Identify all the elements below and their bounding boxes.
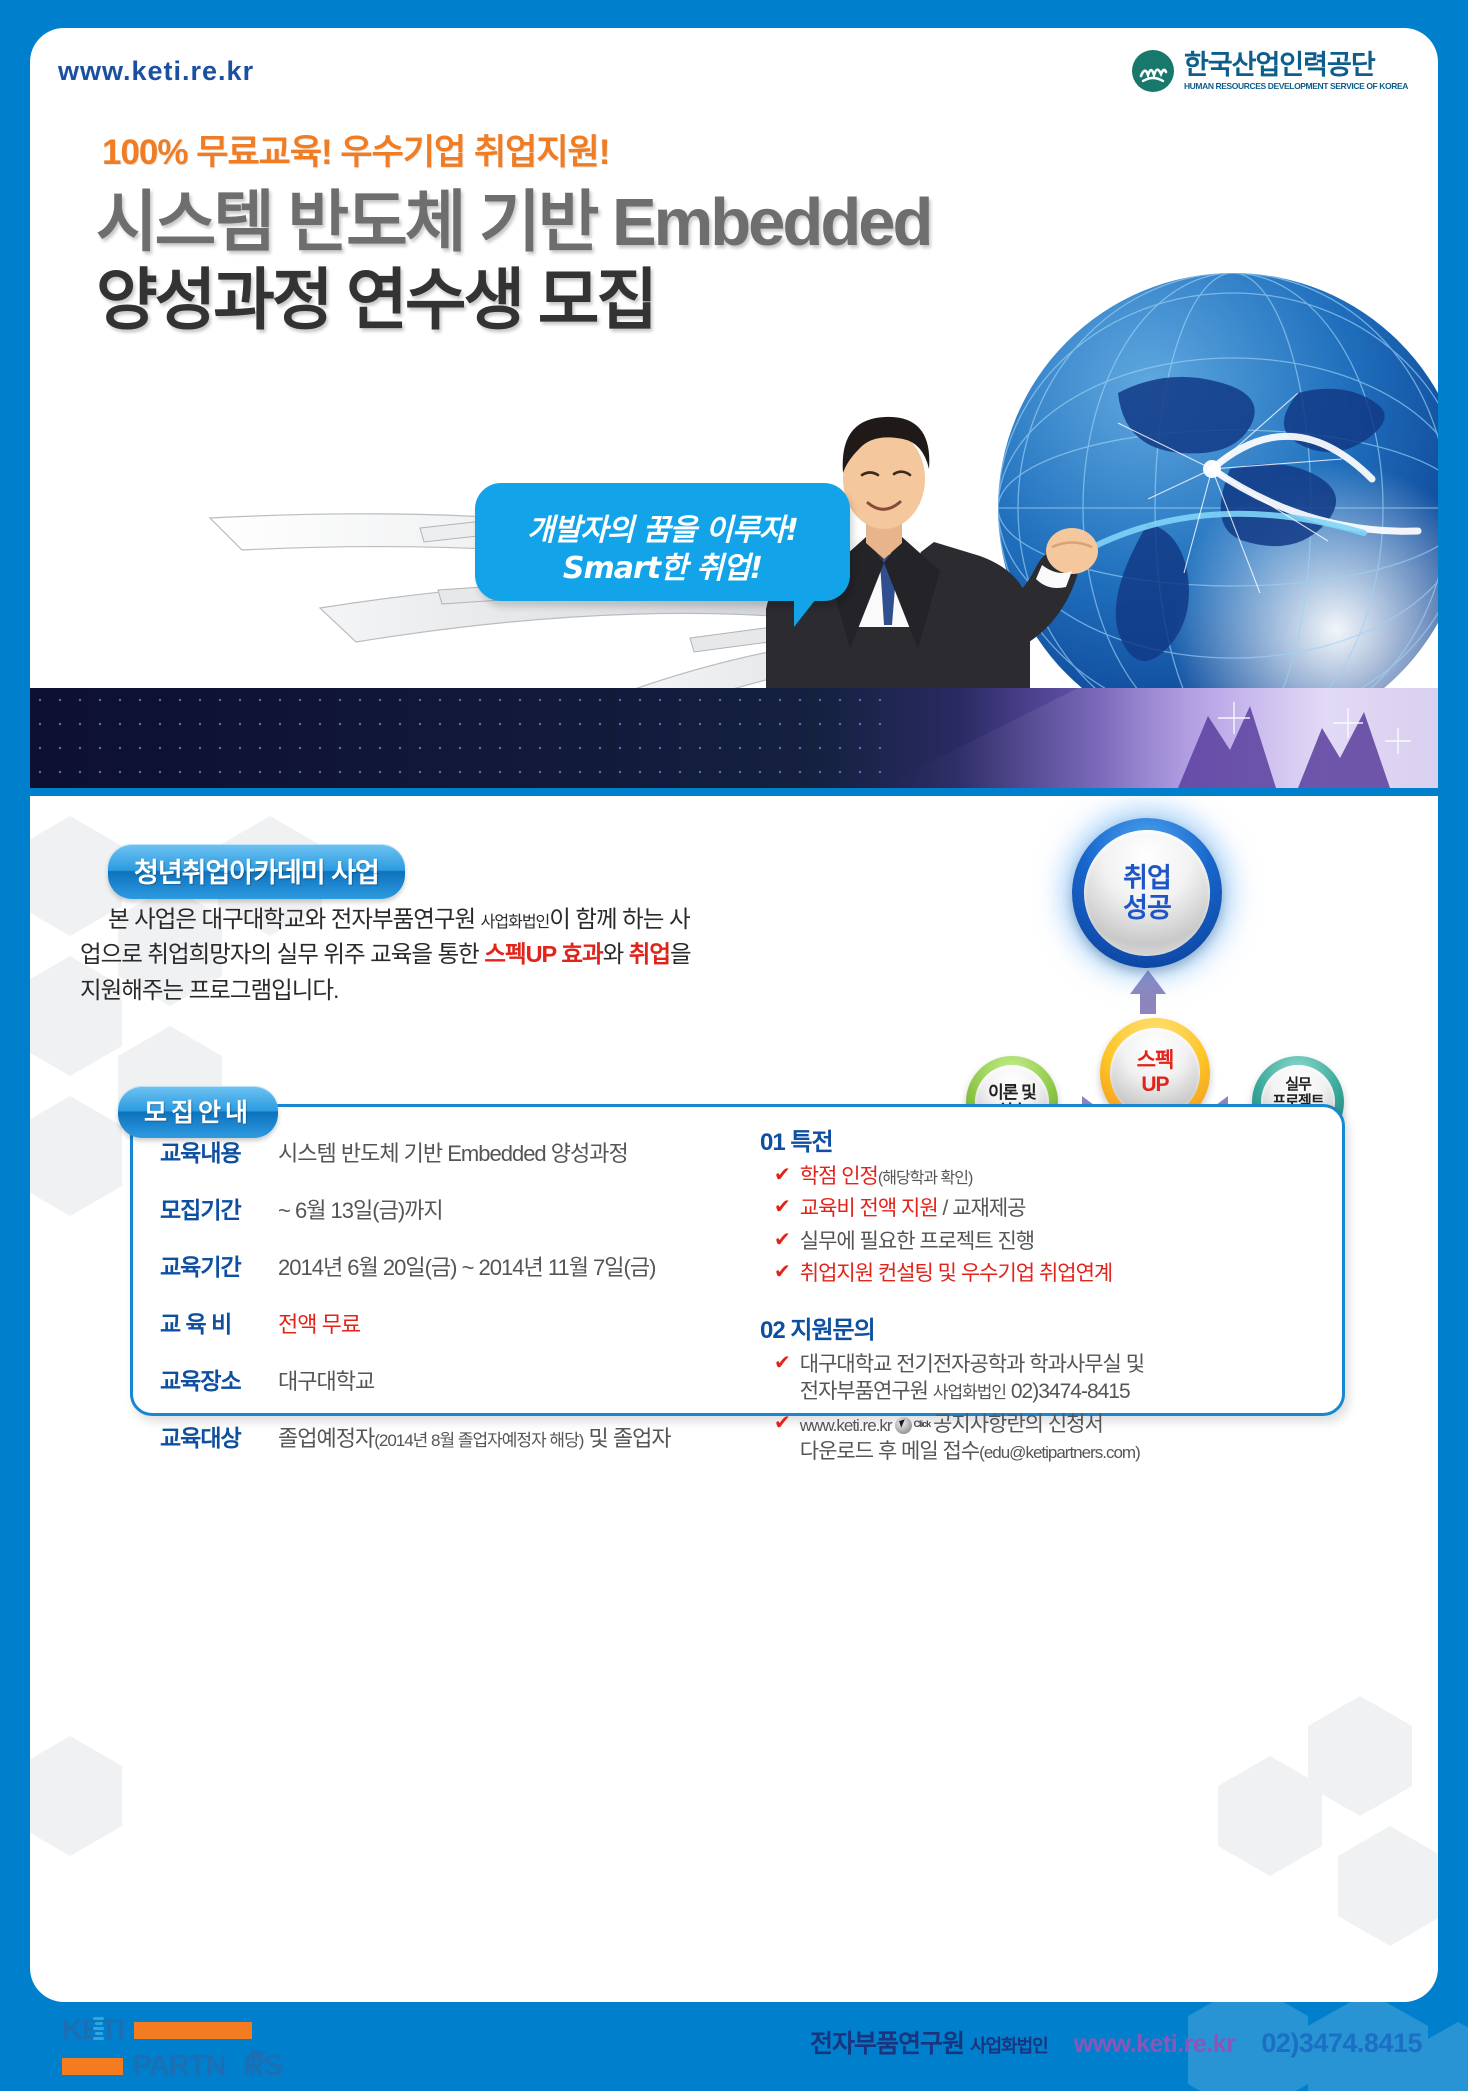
hrd-logo-english: HUMAN RESOURCES DEVELOPMENT SERVICE OF K… bbox=[1184, 82, 1408, 91]
check-icon: ✔ bbox=[774, 1228, 791, 1253]
benefit-note: (해당학과 확인) bbox=[878, 1170, 972, 1187]
check-icon: ✔ bbox=[774, 1411, 791, 1436]
row-value: ~ 6월 13일(금)까지 bbox=[278, 1193, 443, 1225]
contact-apply-instructions: www.keti.re.krClick공지사항란의 신청서 다운로드 후 메일 … bbox=[800, 1411, 1140, 1466]
recruitment-info-box: 모집안내 교육내용 시스템 반도체 기반 Embedded 양성과정 모집기간 … bbox=[130, 1086, 1345, 1416]
benefit-text: 취업지원 컨설팅 및 우수기업 취업연계 bbox=[800, 1260, 1112, 1287]
footer-contact-info: 전자부품연구원 사업화법인 www.keti.re.kr 02)3474.841… bbox=[810, 2024, 1422, 2060]
keti-partners-logo: KETI PARTNERS bbox=[62, 2015, 282, 2077]
row-value-note: (2014년 8월 졸업자예정자 해당) bbox=[374, 1431, 583, 1450]
flag-e-icon bbox=[249, 2048, 269, 2078]
row-value: 2014년 6월 20일(금) ~ 2014년 11월 7일(금) bbox=[278, 1250, 655, 1282]
contact-notice-text: 공지사항란의 신청서 bbox=[933, 1413, 1103, 1436]
contact-email: (edu@ketipartners.com) bbox=[979, 1443, 1140, 1462]
node-success-line2: 성공 bbox=[1123, 893, 1171, 923]
list-item: ✔ 실무에 필요한 프로젝트 진행 bbox=[760, 1228, 1300, 1255]
desc-small-1: 사업화법인 bbox=[481, 914, 550, 931]
footer-org-note: 사업화법인 bbox=[970, 2036, 1048, 2056]
contact-phone: 02)3474-8415 bbox=[1006, 1380, 1130, 1403]
row-value-main: 졸업예정자 bbox=[278, 1426, 374, 1451]
contact-website-url[interactable]: www.keti.re.kr bbox=[800, 1416, 892, 1435]
benefits-heading: 01 특전 bbox=[760, 1122, 1300, 1157]
list-item: ✔ 학점 인정(해당학과 확인) bbox=[760, 1163, 1300, 1190]
row-value-tuition-free: 전액 무료 bbox=[278, 1307, 360, 1339]
band-glow-graphic bbox=[878, 688, 1438, 788]
footer-phone-number: 02)3474.8415 bbox=[1261, 2028, 1422, 2059]
dna-helix-icon bbox=[93, 2017, 104, 2041]
hero-headline-line2: 양성과정 연수생 모집 bbox=[96, 246, 655, 343]
row-label: 교 육 비 bbox=[160, 1305, 278, 1339]
speech-bubble-line2: Smart한 취업! bbox=[475, 543, 850, 587]
table-row: 교육장소 대구대학교 bbox=[160, 1362, 671, 1396]
list-item: ✔ www.keti.re.krClick공지사항란의 신청서 다운로드 후 메… bbox=[760, 1411, 1300, 1466]
speech-bubble: 개발자의 꿈을 이루자! Smart한 취업! bbox=[475, 483, 850, 601]
table-row: 교육대상 졸업예정자(2014년 8월 졸업자예정자 해당) 및 졸업자 bbox=[160, 1419, 671, 1453]
recruitment-detail-rows: 교육내용 시스템 반도체 기반 Embedded 양성과정 모집기간 ~ 6월 … bbox=[160, 1134, 671, 1476]
contact-entity-note: 사업화법인 bbox=[933, 1383, 1006, 1402]
benefit-red: 교육비 전액 지원 bbox=[800, 1197, 938, 1220]
content-panel: 청년취업아카데미 사업 본 사업은 대구대학교와 전자부품연구원 사업화법인이 … bbox=[30, 796, 1438, 2002]
logo-orange-bar-top bbox=[134, 2022, 252, 2039]
check-icon: ✔ bbox=[774, 1351, 791, 1376]
click-label: Click bbox=[914, 1419, 931, 1431]
check-icon: ✔ bbox=[774, 1260, 791, 1285]
benefit-gray: / 교재제공 bbox=[938, 1197, 1026, 1220]
row-label: 모집기간 bbox=[160, 1191, 278, 1225]
node-success-line1: 취업 bbox=[1123, 863, 1171, 893]
row-label: 교육대상 bbox=[160, 1419, 278, 1453]
row-value: 졸업예정자(2014년 8월 졸업자예정자 해당) 및 졸업자 bbox=[278, 1421, 671, 1453]
footer-organization: 전자부품연구원 사업화법인 bbox=[810, 2024, 1048, 2060]
table-row: 교육기간 2014년 6월 20일(금) ~ 2014년 11월 7일(금) bbox=[160, 1248, 671, 1282]
table-row: 모집기간 ~ 6월 13일(금)까지 bbox=[160, 1191, 671, 1225]
row-value-tail: 및 졸업자 bbox=[583, 1426, 670, 1451]
footer: KETI PARTNERS 전자부품연구원 사업화법인 www.keti.re.… bbox=[0, 2002, 1468, 2091]
hrd-logo-korean: 한국산업인력공단 bbox=[1184, 52, 1408, 79]
section-description: 본 사업은 대구대학교와 전자부품연구원 사업화법인이 함께 하는 사업으로 취… bbox=[80, 902, 700, 1008]
check-icon: ✔ bbox=[774, 1195, 791, 1220]
node-spec-line1: 스펙 bbox=[1137, 1049, 1174, 1073]
desc-part-2: 이 함께 하는 bbox=[549, 906, 663, 932]
diagram-node-success: 취업 성공 bbox=[1072, 818, 1222, 968]
row-label: 교육내용 bbox=[160, 1134, 278, 1168]
benefits-and-contact-column: 01 특전 ✔ 학점 인정(해당학과 확인) ✔ 교육비 전액 지원 / 교재제… bbox=[760, 1122, 1300, 1470]
band-dot-pattern bbox=[30, 688, 890, 788]
hero-panel: www.keti.re.kr 한국산업인력공단 HUMAN RESOURCES … bbox=[30, 28, 1438, 688]
check-icon: ✔ bbox=[774, 1163, 791, 1188]
benefit-text: 교육비 전액 지원 / 교재제공 bbox=[800, 1195, 1026, 1222]
logo-keti-word: KETI bbox=[62, 2014, 124, 2047]
benefit-text: 학점 인정(해당학과 확인) bbox=[800, 1163, 973, 1190]
logo-partners-word: PARTNERS bbox=[133, 2050, 282, 2083]
row-value: 시스템 반도체 기반 Embedded 양성과정 bbox=[278, 1136, 628, 1168]
desc-highlight-employment: 취업 bbox=[629, 941, 670, 967]
benefit-red: 취업지원 컨설팅 및 우수기업 취업연계 bbox=[800, 1262, 1112, 1285]
desc-part-4: 와 bbox=[603, 941, 624, 967]
decorative-band bbox=[30, 688, 1438, 788]
row-label: 교육기간 bbox=[160, 1248, 278, 1282]
benefit-gray: 실무에 필요한 프로젝트 진행 bbox=[800, 1230, 1034, 1253]
section-title-youth-academy: 청년취업아카데미 사업 bbox=[108, 844, 405, 899]
contact-office: 대구대학교 전기전자공학과 학과사무실 및 전자부품연구원 사업화법인 02)3… bbox=[800, 1351, 1144, 1406]
logo-orange-bar-bottom bbox=[62, 2058, 123, 2075]
desc-highlight-specup: 스펙UP 효과 bbox=[484, 941, 602, 967]
benefit-text: 실무에 필요한 프로젝트 진행 bbox=[800, 1228, 1034, 1255]
logo-partners-text: PARTN bbox=[133, 2050, 226, 2082]
contact-line1: 대구대학교 전기전자공학과 학과사무실 및 bbox=[800, 1353, 1144, 1376]
contact-download-text: 다운로드 후 메일 접수 bbox=[800, 1440, 979, 1463]
list-item: ✔ 대구대학교 전기전자공학과 학과사무실 및 전자부품연구원 사업화법인 02… bbox=[760, 1351, 1300, 1406]
row-label: 교육장소 bbox=[160, 1362, 278, 1396]
desc-part-1: 본 사업은 대구대학교와 전자부품연구원 bbox=[108, 906, 481, 932]
hero-website-url: www.keti.re.kr bbox=[58, 56, 254, 87]
footer-org-name: 전자부품연구원 bbox=[810, 2030, 970, 2058]
table-row: 교 육 비 전액 무료 bbox=[160, 1305, 671, 1339]
footer-website-url[interactable]: www.keti.re.kr bbox=[1074, 2030, 1236, 2059]
list-item: ✔ 취업지원 컨설팅 및 우수기업 취업연계 bbox=[760, 1260, 1300, 1287]
click-cursor-icon: Click bbox=[895, 1417, 931, 1434]
info-box-title: 모집안내 bbox=[118, 1086, 278, 1138]
row-value: 대구대학교 bbox=[278, 1364, 374, 1396]
benefit-red: 학점 인정 bbox=[800, 1165, 878, 1188]
hrd-wave-mark-icon bbox=[1132, 50, 1174, 92]
table-row: 교육내용 시스템 반도체 기반 Embedded 양성과정 bbox=[160, 1134, 671, 1168]
list-item: ✔ 교육비 전액 지원 / 교재제공 bbox=[760, 1195, 1300, 1222]
hrd-korea-logo: 한국산업인력공단 HUMAN RESOURCES DEVELOPMENT SER… bbox=[1132, 50, 1408, 92]
contact-heading: 02 지원문의 bbox=[760, 1310, 1300, 1345]
contact-line2a: 전자부품연구원 bbox=[800, 1380, 933, 1403]
